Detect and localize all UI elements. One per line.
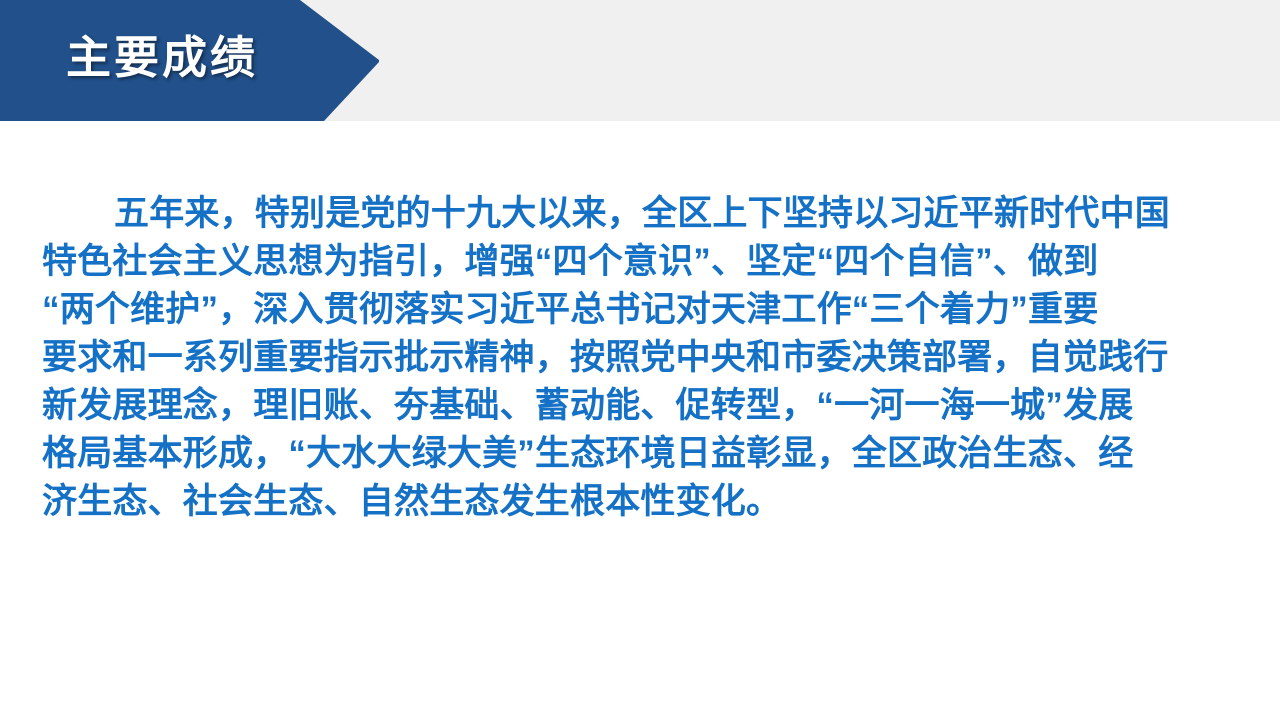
header-band: 主要成绩 [0, 0, 1280, 121]
slide-title: 主要成绩 [66, 27, 258, 89]
slide-root: 主要成绩 五年来，特别是党的十九大以来，全区上下坚持以习近平新时代中国 特色社会… [0, 0, 1280, 720]
paragraph-line: “两个维护”，深入贯彻落实习近平总书记对天津工作“三个着力”重要 [42, 286, 1242, 334]
paragraph-line: 特色社会主义思想为指引，增强“四个意识”、坚定“四个自信”、做到 [42, 238, 1242, 286]
paragraph-line: 格局基本形成，“大水大绿大美”生态环境日益彰显，全区政治生态、经 [42, 430, 1242, 478]
paragraph-line: 要求和一系列重要指示批示精神，按照党中央和市委决策部署，自觉践行 [42, 334, 1242, 382]
body-paragraph: 五年来，特别是党的十九大以来，全区上下坚持以习近平新时代中国 特色社会主义思想为… [42, 190, 1242, 526]
paragraph-line: 济生态、社会生态、自然生态发生根本性变化。 [42, 478, 1242, 526]
paragraph-line: 新发展理念，理旧账、夯基础、蓄动能、促转型，“一河一海一城”发展 [42, 382, 1242, 430]
paragraph-line: 五年来，特别是党的十九大以来，全区上下坚持以习近平新时代中国 [42, 190, 1242, 238]
